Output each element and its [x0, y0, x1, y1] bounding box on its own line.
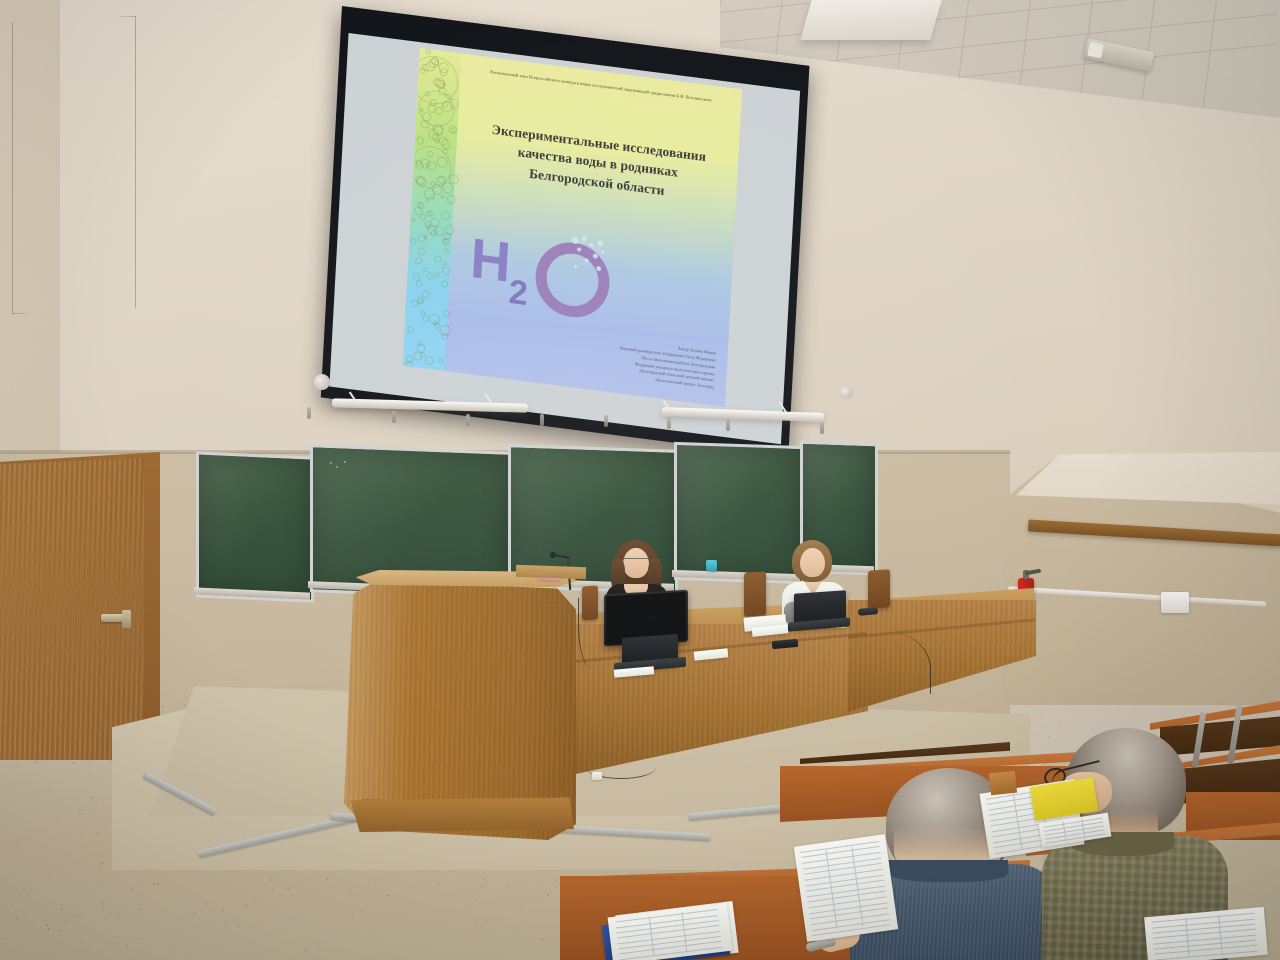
wall-hook-4 — [540, 414, 544, 426]
wall-hook-1 — [307, 407, 311, 419]
screen-surface: Региональный этап Всероссийского конкурс… — [329, 33, 800, 444]
wall-hook-2 — [392, 411, 396, 423]
presenter-right-head — [800, 548, 825, 577]
door-handle[interactable] — [101, 614, 123, 622]
h2o-logo: H 2 — [467, 224, 621, 335]
h2o-subscript-2: 2 — [508, 273, 529, 314]
chalk-holder-cup — [706, 560, 717, 571]
bench-bracket — [989, 771, 1017, 796]
slide-footer-text: Автор: Белова Мария Научный руководитель… — [543, 329, 716, 392]
slide-decorative-band — [403, 48, 462, 371]
slide-title: Экспериментальные исследования качества … — [463, 116, 733, 208]
podium-front-panel — [360, 602, 562, 800]
chalkboard-panel-1 — [196, 451, 314, 602]
wall-hook-8 — [820, 422, 824, 434]
lecture-hall-photo: Региональный этап Всероссийского конкурс… — [0, 0, 1280, 960]
chair-center[interactable] — [744, 571, 766, 617]
h2o-letter-h: H — [469, 230, 510, 291]
wall-socket-right[interactable] — [1161, 592, 1189, 613]
door-panel — [12, 16, 136, 314]
screen-roller-mount-right — [840, 386, 853, 399]
wall-hook-5 — [604, 415, 608, 427]
wall-hook-7 — [726, 419, 730, 431]
eyeglasses-icon-left — [623, 558, 649, 564]
wall-hook-6 — [667, 417, 671, 429]
chair-right[interactable] — [868, 569, 890, 609]
evaluation-paper-left — [794, 834, 898, 942]
desk-side-socket[interactable] — [592, 772, 602, 780]
water-splash-icon — [565, 234, 614, 300]
jury-left-collar — [888, 860, 1008, 882]
wall-hook-3 — [466, 414, 470, 426]
projection-screen: Региональный этап Всероссийского конкурс… — [321, 6, 810, 457]
evaluation-paper-bottom-right — [1144, 907, 1268, 960]
podium-side-ledge — [516, 565, 586, 579]
screen-roller-mount — [314, 374, 330, 390]
presentation-slide: Региональный этап Всероссийского конкурс… — [403, 48, 742, 407]
podium-base — [346, 796, 574, 832]
ceiling-beam — [800, 0, 941, 40]
door-lock-plate — [122, 610, 131, 628]
